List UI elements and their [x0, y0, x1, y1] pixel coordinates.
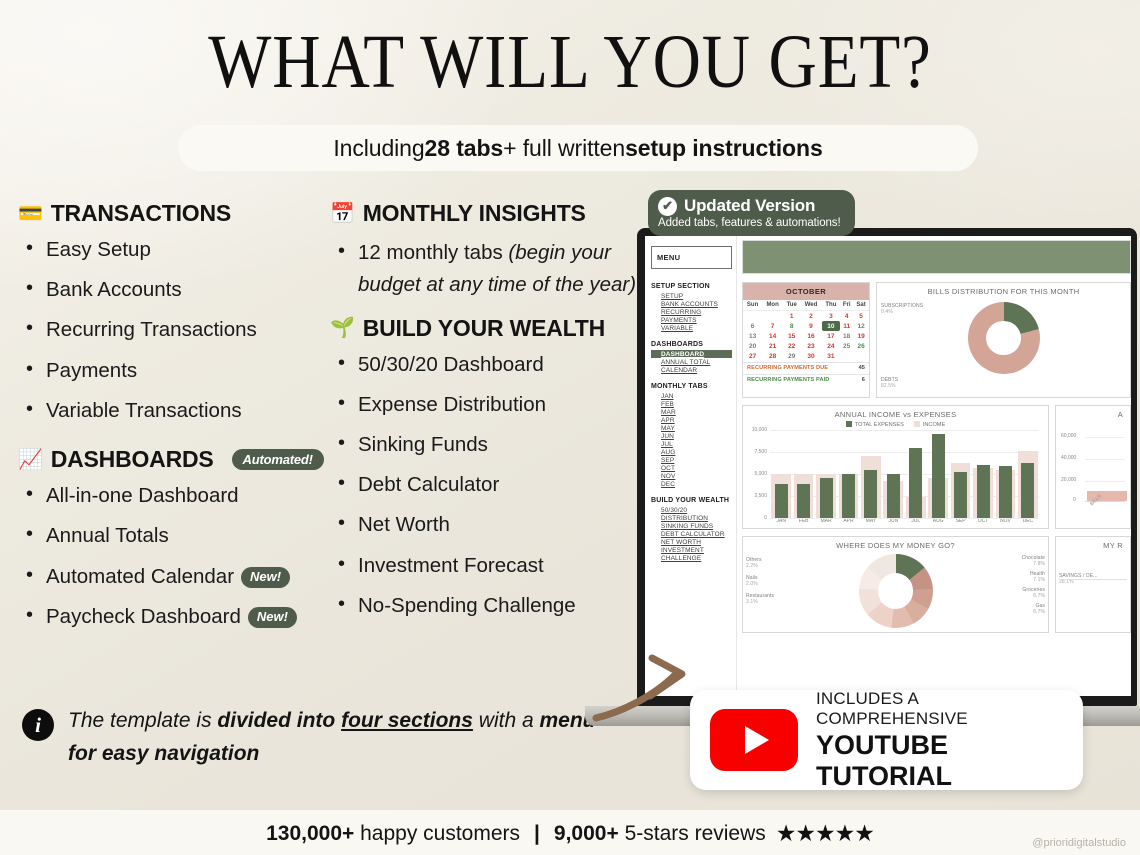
bar-slot[interactable]	[927, 430, 949, 518]
calendar-weekday-row: Sun Mon Tue Wed Thu Fri Sat	[743, 300, 869, 311]
feature-list-monthly-insights: 12 monthly tabs (begin your budget at an…	[330, 237, 650, 301]
spreadsheet-app[interactable]: MENU SETUP SECTION SETUP BANK ACCOUNTS R…	[645, 236, 1131, 696]
section-title: TRANSACTIONS	[51, 200, 231, 227]
sidebar-item-aug[interactable]: AUG	[651, 448, 732, 456]
calendar-day-today[interactable]: 10	[822, 321, 841, 331]
y-tick: 2,500	[754, 493, 767, 499]
menu-group-title: MONTHLY TABS	[651, 383, 732, 390]
calendar-day[interactable]: 15	[783, 331, 800, 341]
bar-slot[interactable]	[972, 430, 994, 518]
weekday: Mon	[762, 300, 783, 311]
list-item-label: No-Spending Challenge	[358, 594, 576, 617]
list-item-label: All-in-one Dashboard	[46, 484, 239, 507]
reviews-count: 9,000+	[554, 822, 619, 845]
subtitle-tabs: 28 tabs	[425, 135, 504, 162]
label-name: DEBTS	[881, 377, 898, 383]
weekday: Sun	[743, 300, 762, 311]
bills-distribution-chart[interactable]: BILLS DISTRIBUTION FOR THIS MONTH SUBSCR…	[876, 282, 1131, 398]
menu-box[interactable]: MENU	[651, 246, 732, 269]
recurring-payments-paid: RECURRING PAYMENTS PAID 6	[743, 374, 869, 386]
list-item-label: Recurring Transactions	[46, 318, 257, 341]
donut-chart	[968, 302, 1040, 374]
chart-label-groceries: Groceries 6.7%	[1022, 587, 1045, 600]
recurring-payments-due: RECURRING PAYMENTS DUE 45	[743, 362, 869, 374]
calendar-week: 6 7 8 9 10 11 12	[743, 321, 869, 331]
feature-column-middle: 📅 MONTHLY INSIGHTS 12 monthly tabs (begi…	[330, 200, 650, 633]
template-note-text: The template is divided into four sectio…	[68, 705, 602, 770]
y-tick: 20,000	[1061, 477, 1076, 483]
label-pct: 0.4%	[881, 309, 923, 315]
list-item-label: Variable Transactions	[46, 399, 242, 422]
expense-bar	[797, 484, 810, 518]
y-tick: 10,000	[752, 427, 767, 433]
sidebar-item-jun[interactable]: JUN	[651, 432, 732, 440]
play-triangle	[745, 726, 769, 754]
sidebar-item-may[interactable]: MAY	[651, 424, 732, 432]
calendar-day[interactable]: 14	[762, 331, 783, 341]
chart-label-chocolate: Chocolate 7.8%	[1022, 555, 1045, 568]
sheet-row-top: OCTOBER Sun Mon Tue Wed Thu Fri Sat	[742, 282, 1131, 398]
sidebar-item-apr[interactable]: APR	[651, 416, 732, 424]
sidebar-item-jul[interactable]: JUL	[651, 440, 732, 448]
chart-label-gas: Gas 6.7%	[1033, 603, 1045, 616]
where-does-my-money-go-chart[interactable]: WHERE DOES MY MONEY GO? Others 2.2% Nail…	[742, 536, 1049, 633]
calendar-day[interactable]: 9	[800, 321, 821, 331]
calendar-day[interactable]: 25	[840, 342, 853, 352]
calendar-day[interactable]	[743, 311, 762, 322]
menu-group-build-your-wealth: BUILD YOUR WEALTH 50/30/20 DISTRIBUTION …	[651, 497, 732, 562]
youtube-play-icon[interactable]	[710, 709, 798, 771]
reviews-label: 5-stars reviews	[619, 822, 766, 845]
grid-line	[770, 518, 1039, 519]
list-item-label: Sinking Funds	[358, 433, 488, 456]
list-item[interactable]: 12 monthly tabs (begin your budget at an…	[330, 237, 650, 301]
calendar-day[interactable]: 8	[783, 321, 800, 331]
label-pct: 6.7%	[1022, 593, 1045, 599]
label-pct: 7.8%	[1022, 561, 1045, 567]
right-partial-chart[interactable]: A 60,000 40,000 20,000 0 BILLS	[1055, 405, 1131, 529]
list-item-label: Paycheck Dashboard	[46, 605, 241, 628]
calendar-day[interactable]	[762, 311, 783, 322]
calendar-day[interactable]: 31	[822, 352, 841, 362]
calendar-day[interactable]: 24	[822, 342, 841, 352]
check-circle-icon: ✔	[658, 197, 677, 216]
info-icon: i	[22, 709, 54, 741]
sidebar-item-sinking-funds[interactable]: SINKING FUNDS	[651, 522, 732, 530]
menu-group-title: SETUP SECTION	[651, 283, 732, 290]
calendar-day[interactable]: 1	[783, 311, 800, 322]
stat-label: RECURRING PAYMENTS DUE	[747, 365, 828, 371]
list-item-label: Payments	[46, 359, 137, 382]
section-title: DASHBOARDS	[51, 446, 214, 473]
bar-slot[interactable]	[882, 430, 904, 518]
expense-bar	[820, 478, 833, 518]
my-results-panel[interactable]: MY R SAVINGS / DE... 28.1%	[1055, 536, 1131, 633]
expense-bar	[954, 472, 967, 518]
label-pct: 2.2%	[746, 563, 762, 569]
note-bold-1: divided into	[217, 709, 341, 732]
y-tick: 0	[1073, 497, 1076, 503]
bar-group	[770, 430, 1039, 518]
bar-slot[interactable]	[837, 430, 859, 518]
calendar-day[interactable]: 18	[840, 331, 853, 341]
chart-label-subscriptions: SUBSCRIPTIONS 0.4%	[881, 303, 923, 316]
list-item-label: Net Worth	[358, 513, 450, 536]
sidebar-item-oct[interactable]: OCT	[651, 464, 732, 472]
section-title: BUILD YOUR WEALTH	[363, 315, 605, 342]
bar-slot[interactable]	[860, 430, 882, 518]
seedling-icon: 🌱	[330, 318, 355, 338]
list-item[interactable]: Paycheck DashboardNew!	[18, 604, 348, 630]
expense-bar	[977, 465, 990, 518]
section-heading-build-your-wealth: 🌱 BUILD YOUR WEALTH	[330, 315, 650, 342]
watermark: @prioridigitalstudio	[1032, 837, 1126, 849]
label-pct: 6.7%	[1033, 609, 1045, 615]
bar-slot[interactable]	[949, 430, 971, 518]
laptop-screen: MENU SETUP SECTION SETUP BANK ACCOUNTS R…	[637, 228, 1137, 706]
chart-title: WHERE DOES MY MONEY GO?	[748, 541, 1043, 550]
sidebar-item-payments[interactable]: PAYMENTS	[651, 316, 732, 324]
bar-slot[interactable]	[1017, 430, 1039, 518]
list-item[interactable]: Automated CalendarNew!	[18, 564, 348, 590]
calendar-week: 1 2 3 4 5	[743, 311, 869, 322]
calendar-widget[interactable]: OCTOBER Sun Mon Tue Wed Thu Fri Sat	[742, 282, 870, 398]
chart-label-debts: DEBTS 82.5%	[881, 377, 898, 390]
youtube-badge-line2: YOUTUBE TUTORIAL	[816, 730, 1063, 792]
weekday: Tue	[783, 300, 800, 311]
feature-list-transactions: Easy Setup Bank Accounts Recurring Trans…	[18, 237, 348, 424]
list-item[interactable]: Easy Setup	[18, 237, 348, 263]
template-note: i The template is divided into four sect…	[22, 705, 602, 770]
weekday: Thu	[822, 300, 841, 311]
label-pct: 2.0%	[746, 581, 758, 587]
stat-label: RECURRING PAYMENTS PAID	[747, 377, 829, 383]
credit-card-icon: 💳	[18, 204, 43, 224]
calendar-week: 27 28 29 30 31	[743, 352, 869, 362]
legend-swatch	[846, 421, 852, 427]
calendar-day[interactable]: 27	[743, 352, 762, 362]
calendar-day[interactable]: 19	[853, 331, 869, 341]
expense-bar	[1021, 463, 1034, 518]
list-item-label: Automated Calendar	[46, 565, 234, 588]
sidebar-item-recurring[interactable]: RECURRING	[651, 308, 732, 316]
section-heading-dashboards: 📈 DASHBOARDS Automated!	[18, 446, 348, 473]
spreadsheet-main: OCTOBER Sun Mon Tue Wed Thu Fri Sat	[737, 236, 1131, 696]
stat-value: 6	[862, 377, 865, 383]
y-tick: 7,500	[754, 449, 767, 455]
sidebar-item-investment[interactable]: INVESTMENT	[651, 546, 732, 554]
list-item[interactable]: Sinking Funds	[330, 432, 650, 458]
chart-label-others: Others 2.2%	[746, 557, 762, 570]
calendar-day[interactable]: 26	[853, 342, 869, 352]
feature-list-build-your-wealth: 50/30/20 Dashboard Expense Distribution …	[330, 352, 650, 620]
list-item-label: Debt Calculator	[358, 473, 499, 496]
sidebar-item-distribution[interactable]: DISTRIBUTION	[651, 514, 732, 522]
new-badge: New!	[241, 567, 290, 588]
list-item[interactable]: All-in-one Dashboard	[18, 483, 348, 509]
sheet-header-banner	[742, 240, 1131, 274]
sidebar-item-bank-accounts[interactable]: BANK ACCOUNTS	[651, 300, 732, 308]
stat-value: 45	[859, 365, 865, 371]
chart-legend: TOTAL EXPENSES INCOME	[748, 421, 1043, 428]
automated-badge: Automated!	[232, 449, 324, 470]
calendar-week: 13 14 15 16 17 18 19	[743, 331, 869, 341]
calendar-day[interactable]: 4	[840, 311, 853, 322]
calendar-day[interactable]: 2	[800, 311, 821, 322]
subtitle-pre: Including	[333, 135, 424, 162]
expense-bar	[999, 466, 1012, 518]
star-rating-icon: ★★★★★	[776, 820, 874, 847]
calendar-day[interactable]	[853, 352, 869, 362]
calendar-day[interactable]: 22	[783, 342, 800, 352]
chart-title: ANNUAL INCOME vs EXPENSES	[748, 410, 1043, 419]
calendar-day[interactable]: 17	[822, 331, 841, 341]
note-part-2: with a	[473, 709, 540, 732]
subtitle-mid: + full written	[503, 135, 625, 162]
footer: 130,000+ happy customers | 9,000+ 5-star…	[0, 820, 1140, 847]
chart-label-nails: Nails 2.0%	[746, 575, 758, 588]
sheet-row-middle: ANNUAL INCOME vs EXPENSES TOTAL EXPENSES…	[742, 405, 1131, 529]
label-pct: 3.1%	[746, 599, 774, 605]
calendar-day[interactable]	[840, 352, 853, 362]
list-item[interactable]: Variable Transactions	[18, 398, 348, 424]
youtube-badge-line1: INCLUDES A COMPREHENSIVE	[816, 689, 1063, 729]
feature-column-left: 💳 TRANSACTIONS Easy Setup Bank Accounts …	[18, 200, 348, 644]
calendar-day[interactable]: 16	[800, 331, 821, 341]
note-underline: four sections	[341, 709, 473, 732]
expense-bar	[775, 484, 788, 518]
calendar-icon: 📅	[330, 204, 355, 224]
list-item-label: Investment Forecast	[358, 554, 544, 577]
subtitle-setup: setup instructions	[625, 135, 823, 162]
bar-slot[interactable]	[815, 430, 837, 518]
y-tick: 5,000	[754, 471, 767, 477]
calendar-day[interactable]: 30	[800, 352, 821, 362]
updated-badge-title: Updated Version	[684, 196, 815, 216]
list-item-label: 12 monthly tabs	[358, 241, 508, 264]
list-item-label: Expense Distribution	[358, 393, 546, 416]
footer-reviews: 9,000+ 5-stars reviews	[554, 822, 766, 846]
label-pct: 82.5%	[881, 383, 898, 389]
legend-label: TOTAL EXPENSES	[855, 422, 904, 428]
legend-label: INCOME	[923, 422, 945, 428]
sidebar-item-challenge[interactable]: CHALLENGE	[651, 554, 732, 562]
y-tick: 40,000	[1061, 455, 1076, 461]
donut-chart	[859, 554, 933, 628]
list-item[interactable]: Payments	[18, 358, 348, 384]
page-title: WHAT WILL YOU GET?	[68, 24, 1071, 100]
menu-group-dashboards: DASHBOARDS DASHBOARD ANNUAL TOTAL CALEND…	[651, 341, 732, 374]
legend-swatch	[914, 421, 920, 427]
calendar-day[interactable]: 12	[853, 321, 869, 331]
calendar-week: 20 21 22 23 24 25 26	[743, 342, 869, 352]
list-item-label: Bank Accounts	[46, 278, 182, 301]
sidebar-item-sep[interactable]: SEP	[651, 456, 732, 464]
footer-customers: 130,000+ happy customers	[266, 822, 520, 846]
calendar-day[interactable]: 3	[822, 311, 841, 322]
list-item[interactable]: Recurring Transactions	[18, 317, 348, 343]
sidebar-item-feb[interactable]: FEB	[651, 400, 732, 408]
sidebar-item-dec[interactable]: DEC	[651, 480, 732, 488]
updated-badge-subtitle: Added tabs, features & automations!	[658, 217, 841, 229]
list-item[interactable]: Annual Totals	[18, 523, 348, 549]
expense-bar	[932, 434, 945, 518]
calendar-day[interactable]: 7	[762, 321, 783, 331]
label-pct: 28.1%	[1059, 579, 1098, 585]
sidebar-item-mar[interactable]: MAR	[651, 408, 732, 416]
bar-slot[interactable]	[770, 430, 792, 518]
list-item[interactable]: Investment Forecast	[330, 553, 650, 579]
list-item[interactable]: No-Spending Challenge	[330, 593, 650, 619]
calendar-day[interactable]: 20	[743, 342, 762, 352]
chart-title: A	[1061, 410, 1125, 419]
menu-group-setup: SETUP SECTION SETUP BANK ACCOUNTS RECURR…	[651, 283, 732, 332]
customers-count: 130,000+	[266, 822, 354, 845]
chart-plot-area: 10,0007,5005,0002,5000	[770, 430, 1039, 518]
calendar-day[interactable]: 23	[800, 342, 821, 352]
sidebar-item-503020[interactable]: 50/30/20	[651, 506, 732, 514]
list-item[interactable]: Bank Accounts	[18, 277, 348, 303]
calendar-day[interactable]: 21	[762, 342, 783, 352]
section-title: MONTHLY INSIGHTS	[363, 200, 586, 227]
calendar-day[interactable]: 29	[783, 352, 800, 362]
calendar-day[interactable]: 5	[853, 311, 869, 322]
y-tick: 60,000	[1061, 433, 1076, 439]
sidebar-item-variable[interactable]: VARIABLE	[651, 324, 732, 332]
weekday: Sat	[853, 300, 869, 311]
sidebar-item-dashboard[interactable]: DASHBOARD	[651, 350, 732, 358]
sidebar-item-annual-total[interactable]: ANNUAL TOTAL	[651, 358, 732, 366]
bar-slot[interactable]	[994, 430, 1016, 518]
subtitle-pill: Including 28 tabs + full written setup i…	[178, 125, 978, 171]
calendar-day[interactable]: 6	[743, 321, 762, 331]
sidebar-item-setup[interactable]: SETUP	[651, 292, 732, 300]
sidebar-item-jan[interactable]: JAN	[651, 392, 732, 400]
sidebar-item-nov[interactable]: NOV	[651, 472, 732, 480]
weekday: Fri	[840, 300, 853, 311]
menu-group-title: DASHBOARDS	[651, 341, 732, 348]
expense-bar	[842, 474, 855, 518]
list-item[interactable]: Debt Calculator	[330, 472, 650, 498]
youtube-badge-text: INCLUDES A COMPREHENSIVE YOUTUBE TUTORIA…	[816, 689, 1063, 792]
updated-version-badge: ✔ Updated Version Added tabs, features &…	[648, 190, 855, 236]
section-heading-transactions: 💳 TRANSACTIONS	[18, 200, 348, 227]
chart-label-restaurants: Restaurants 3.1%	[746, 593, 774, 606]
calendar-table: Sun Mon Tue Wed Thu Fri Sat	[743, 300, 869, 362]
menu-group-title: BUILD YOUR WEALTH	[651, 497, 732, 504]
weekday: Wed	[800, 300, 821, 311]
calendar-day[interactable]: 13	[743, 331, 762, 341]
list-item[interactable]: 50/30/20 Dashboard	[330, 352, 650, 378]
label-pct: 7.1%	[1030, 577, 1045, 583]
expense-bar	[864, 470, 877, 518]
note-part-1: The template is	[68, 709, 217, 732]
calendar-month: OCTOBER	[743, 283, 869, 300]
legend-income: INCOME	[914, 421, 945, 428]
annual-income-vs-expenses-chart[interactable]: ANNUAL INCOME vs EXPENSES TOTAL EXPENSES…	[742, 405, 1049, 529]
youtube-tutorial-badge[interactable]: INCLUDES A COMPREHENSIVE YOUTUBE TUTORIA…	[690, 690, 1083, 790]
sheet-row-bottom: WHERE DOES MY MONEY GO? Others 2.2% Nail…	[742, 536, 1131, 633]
sidebar-item-debt-calculator[interactable]: DEBT CALCULATOR	[651, 530, 732, 538]
list-item[interactable]: Expense Distribution	[330, 392, 650, 418]
list-item[interactable]: Net Worth	[330, 512, 650, 538]
legend-expenses: TOTAL EXPENSES	[846, 421, 904, 428]
section-heading-monthly-insights: 📅 MONTHLY INSIGHTS	[330, 200, 650, 227]
sidebar-item-net-worth[interactable]: NET WORTH	[651, 538, 732, 546]
customers-label: happy customers	[354, 822, 520, 845]
footer-separator: |	[534, 822, 540, 846]
chart-title: MY R	[1061, 541, 1125, 550]
menu-group-monthly-tabs: MONTHLY TABS JAN FEB MAR APR MAY JUN JUL…	[651, 383, 732, 488]
chart-increasing-icon: 📈	[18, 450, 43, 470]
calendar-day[interactable]: 11	[840, 321, 853, 331]
new-badge: New!	[248, 607, 297, 628]
chart-label-health: Health 7.1%	[1030, 571, 1045, 584]
list-item-label: Easy Setup	[46, 238, 151, 261]
list-item-label: Annual Totals	[46, 524, 169, 547]
chart-title: BILLS DISTRIBUTION FOR THIS MONTH	[882, 287, 1125, 296]
spreadsheet-sidebar[interactable]: MENU SETUP SECTION SETUP BANK ACCOUNTS R…	[645, 236, 737, 696]
feature-list-dashboards: All-in-one Dashboard Annual Totals Autom…	[18, 483, 348, 630]
calendar-day[interactable]: 28	[762, 352, 783, 362]
y-tick: 0	[764, 515, 767, 521]
bar-slot[interactable]	[792, 430, 814, 518]
list-item-label: 50/30/20 Dashboard	[358, 353, 544, 376]
expense-bar	[887, 474, 900, 518]
updated-badge-title-row: ✔ Updated Version	[658, 196, 841, 216]
right-chart-plot: 60,000 40,000 20,000 0 BILLS	[1061, 425, 1125, 511]
bar-slot[interactable]	[905, 430, 927, 518]
expense-bar	[909, 448, 922, 518]
sidebar-item-calendar[interactable]: CALENDAR	[651, 366, 732, 374]
